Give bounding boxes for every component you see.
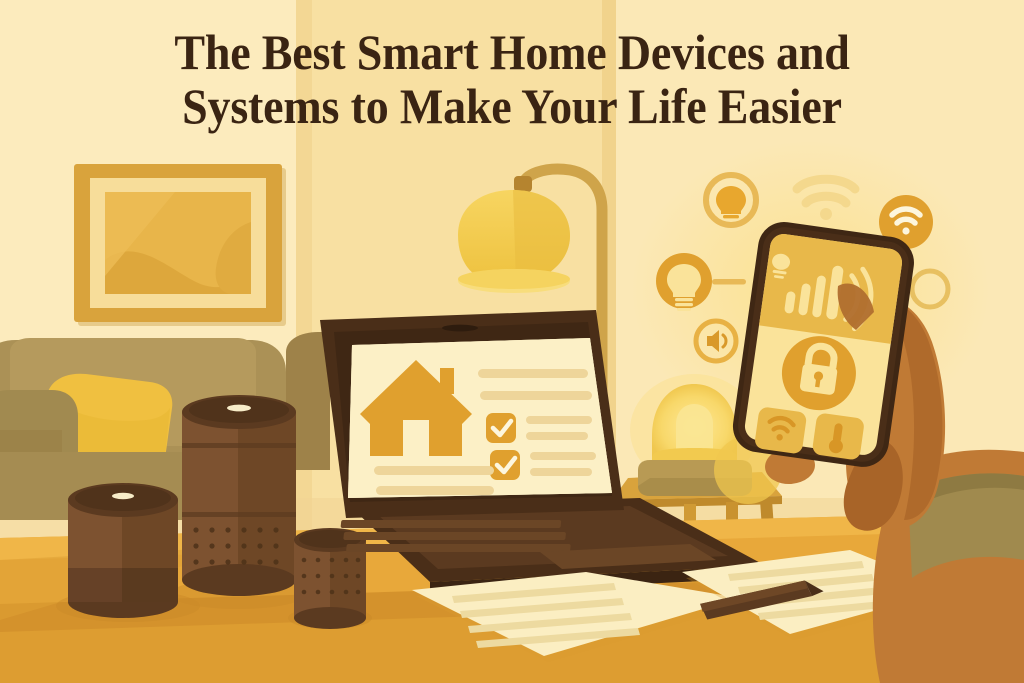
illustration-banner: The Best Smart Home Devices and Systems … [0,0,1024,683]
thermostat-tile [812,412,865,460]
phone-body [730,219,918,471]
wifi-waves-dot [820,208,832,220]
smart-speaker-left [68,483,178,618]
smart-speaker-right [294,528,366,629]
wall-seam-left [296,0,312,560]
scene-artwork [0,0,1024,683]
wifi-tile [754,406,807,454]
connector-line [712,279,746,285]
framed-abstract-landscape [74,164,286,326]
speaker-led [227,405,251,412]
keyboard-keys [341,520,571,552]
speaker-led [112,493,134,499]
webcam-notch [442,325,478,332]
smart-speaker-center [182,395,296,596]
